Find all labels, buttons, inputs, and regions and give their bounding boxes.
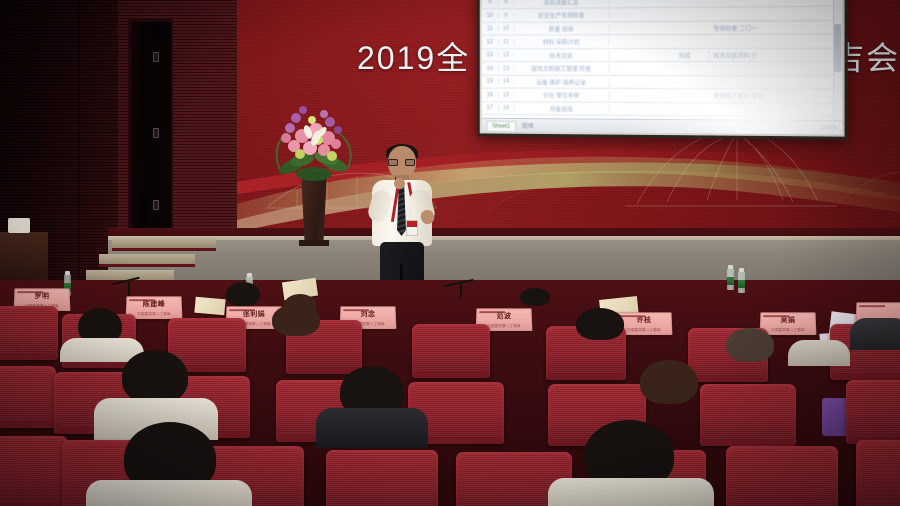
- audience-head: [726, 328, 774, 362]
- row-number-cell[interactable]: 13: [482, 52, 499, 58]
- water-bottle: [738, 271, 745, 293]
- bouquet-svg: [272, 104, 356, 182]
- banner-title-left: 2019全: [357, 33, 470, 79]
- row-number-cell[interactable]: 14: [482, 65, 499, 71]
- wall-panel-seam: [78, 0, 80, 285]
- audience-seating-area: 罗明 中国建筑第八工程局 陈建峰 中国建筑第八工程局 张利娟 中国建筑第八工程局…: [0, 280, 900, 506]
- spreadsheet-cell[interactable]: 14: [499, 79, 514, 85]
- auditorium-seat[interactable]: [846, 380, 900, 444]
- auditorium-seat[interactable]: [0, 306, 58, 360]
- door-hinge-icon: [153, 200, 159, 210]
- audience-head: [226, 282, 260, 306]
- auditorium-seat[interactable]: [326, 450, 438, 506]
- auditorium-seat[interactable]: [0, 366, 56, 428]
- spreadsheet-cell[interactable]: [709, 0, 842, 1]
- row-number-cell[interactable]: 17: [482, 105, 499, 111]
- placard-org-text: 中国建筑第八工程局: [771, 327, 805, 332]
- auditorium-seat[interactable]: [412, 324, 490, 378]
- spreadsheet-row[interactable]: 1514设备 维护 保养记录: [482, 76, 843, 90]
- spreadsheet-cell[interactable]: 16: [499, 105, 514, 111]
- spreadsheet-cell[interactable]: [709, 13, 842, 14]
- placard-org-band: [17, 291, 43, 293]
- spreadsheet-row[interactable]: 1110质量 验收专项检查 二〇一: [482, 21, 843, 36]
- spreadsheet-cell[interactable]: 技术交底资料 已: [709, 50, 842, 59]
- row-number-cell[interactable]: 15: [482, 79, 499, 85]
- bottle-label: [738, 280, 745, 288]
- status-ready-label: 就绪: [522, 121, 534, 130]
- spreadsheet-cell[interactable]: 分包 单位考核: [514, 91, 609, 100]
- side-table: [0, 232, 48, 280]
- id-badge: [406, 220, 418, 236]
- stage-step: [112, 238, 216, 251]
- spreadsheet-cell[interactable]: 15: [499, 92, 514, 98]
- spreadsheet-cell[interactable]: 设备 维护 保养记录: [514, 77, 609, 86]
- audience-shoulders: [850, 318, 900, 350]
- bottle-cap: [739, 268, 744, 272]
- spreadsheet-cell[interactable]: 考核表下发各 项目: [709, 91, 842, 101]
- audience-shoulders: [548, 478, 714, 506]
- spreadsheet-row[interactable]: 1413现场文明施工管理 检查: [482, 62, 843, 75]
- zoom-level-label[interactable]: 100%: [821, 125, 837, 131]
- spreadsheet-cell[interactable]: 12: [499, 52, 514, 58]
- paper-document: [194, 297, 225, 316]
- scrollbar-thumb[interactable]: [834, 24, 841, 72]
- placard-org-text: 中国建筑第八工程局: [627, 327, 661, 332]
- spreadsheet-cell[interactable]: 9: [499, 12, 514, 18]
- spreadsheet-cell[interactable]: 8: [499, 0, 514, 5]
- auditorium-seat[interactable]: [700, 384, 796, 446]
- stage-step: [99, 254, 195, 267]
- spreadsheet-cell[interactable]: 10: [499, 26, 514, 32]
- placard-org-band: [763, 315, 789, 317]
- placard-name-text: 许枝: [636, 317, 651, 324]
- spreadsheet-cell[interactable]: 月度总结: [514, 104, 609, 113]
- auditorium-seat[interactable]: [0, 436, 68, 506]
- spreadsheet-cell[interactable]: 项目进度汇总: [514, 0, 609, 7]
- row-number-cell[interactable]: 12: [482, 39, 499, 45]
- placard-org-band: [129, 299, 155, 301]
- tissue-box: [8, 218, 30, 233]
- door-hinge-icon: [153, 52, 159, 62]
- spreadsheet-cell[interactable]: [709, 109, 842, 110]
- presenter-hand-holding-mic: [394, 178, 405, 189]
- spreadsheet-cell[interactable]: 专项检查 二〇一: [709, 23, 842, 33]
- placard-org-text: 中国建筑第八工程局: [137, 311, 171, 316]
- flower-arrangement: [272, 104, 356, 182]
- placard-name-text: 张利娟: [243, 311, 266, 318]
- spreadsheet-cell[interactable]: 安全生产专项检查: [514, 10, 609, 19]
- bottle-cap: [247, 273, 252, 277]
- planter-base: [299, 240, 329, 246]
- sheet-tab[interactable]: Sheet1: [486, 120, 516, 130]
- audience-head: [520, 288, 550, 306]
- placard-org-band: [619, 315, 645, 317]
- row-number-cell[interactable]: 16: [482, 92, 499, 98]
- placard-name-text: 罗明: [34, 293, 49, 300]
- name-placard: 吴娟 中国建筑第八工程局: [760, 312, 817, 335]
- spreadsheet-status-bar: Sheet1 就绪 100%: [482, 118, 843, 135]
- spreadsheet-row[interactable]: 109安全生产专项检查: [482, 7, 843, 22]
- placard-org-band: [343, 309, 369, 311]
- badge-header-band: [407, 221, 417, 227]
- eyeglasses-icon: [388, 159, 416, 166]
- door-hinge-icon: [153, 128, 159, 138]
- audience-head: [122, 350, 188, 404]
- audience-shoulders: [316, 408, 428, 448]
- water-bottle: [727, 268, 734, 290]
- desk-microphone-boom: [444, 279, 474, 287]
- placard-org-text: 中国建筑第八工程局: [487, 323, 521, 328]
- row-number-cell[interactable]: 11: [482, 26, 499, 32]
- eyeglass-lens: [405, 159, 415, 166]
- stage-floor: [108, 240, 900, 284]
- auditorium-seat[interactable]: [726, 446, 838, 506]
- placard-name-text: 吴娟: [780, 317, 795, 324]
- auditorium-seat[interactable]: [856, 440, 900, 506]
- projection-screen: 98项目进度汇总109安全生产专项检查1110质量 验收专项检查 二〇一1211…: [477, 0, 848, 140]
- conference-hall-scene: 2019全 吉会 98项目进度汇总109安全生产专项检查1110质量 验收专项检…: [0, 0, 900, 506]
- spreadsheet-cell[interactable]: 现场文明施工管理 检查: [514, 64, 609, 73]
- spreadsheet-cell[interactable]: 完成: [661, 50, 709, 59]
- audience-shoulders: [788, 340, 850, 366]
- bottle-label: [727, 277, 734, 285]
- desk-microphone-stand: [460, 284, 462, 298]
- spreadsheet-rows: 98项目进度汇总109安全生产专项检查1110质量 验收专项检查 二〇一1211…: [482, 0, 843, 135]
- stage-side-doorway: [128, 19, 173, 238]
- placard-name-text: 刘念: [360, 311, 375, 318]
- spreadsheet-cell[interactable]: 材料 采购计划: [514, 37, 609, 46]
- spreadsheet-row[interactable]: 1716月度总结: [482, 102, 843, 117]
- placard-name-text: 范波: [496, 313, 511, 320]
- spreadsheet-row[interactable]: 1615分包 单位考核考核表下发各 项目: [482, 89, 843, 103]
- presenter-figure: [364, 146, 440, 284]
- placard-org-band: [479, 311, 505, 313]
- audience-head: [576, 308, 624, 340]
- spreadsheet-row[interactable]: 1211材料 采购计划: [482, 35, 843, 49]
- spreadsheet-row[interactable]: 1312技术交底完成技术交底资料 已: [482, 49, 843, 62]
- eyeglass-lens: [388, 159, 398, 166]
- placard-org-band: [229, 309, 255, 311]
- spreadsheet-scrollbar[interactable]: [833, 0, 842, 135]
- row-number-cell[interactable]: 10: [482, 13, 499, 19]
- spreadsheet-cell[interactable]: 11: [499, 39, 514, 45]
- placard-org-band: [859, 305, 885, 307]
- audience-head: [272, 304, 320, 336]
- bottle-cap: [65, 271, 70, 275]
- placard-name-text: 陈建峰: [143, 301, 166, 308]
- projection-screen-surface: 98项目进度汇总109安全生产专项检查1110质量 验收专项检查 二〇一1211…: [482, 0, 843, 135]
- row-number-cell[interactable]: 9: [482, 0, 499, 5]
- bottle-cap: [728, 265, 733, 269]
- audience-shoulders: [86, 480, 252, 506]
- spreadsheet-cell[interactable]: 质量 验收: [514, 24, 609, 33]
- audience-head: [640, 360, 698, 404]
- spreadsheet-cell[interactable]: 技术交底: [514, 51, 609, 60]
- spreadsheet-cell[interactable]: 13: [499, 65, 514, 71]
